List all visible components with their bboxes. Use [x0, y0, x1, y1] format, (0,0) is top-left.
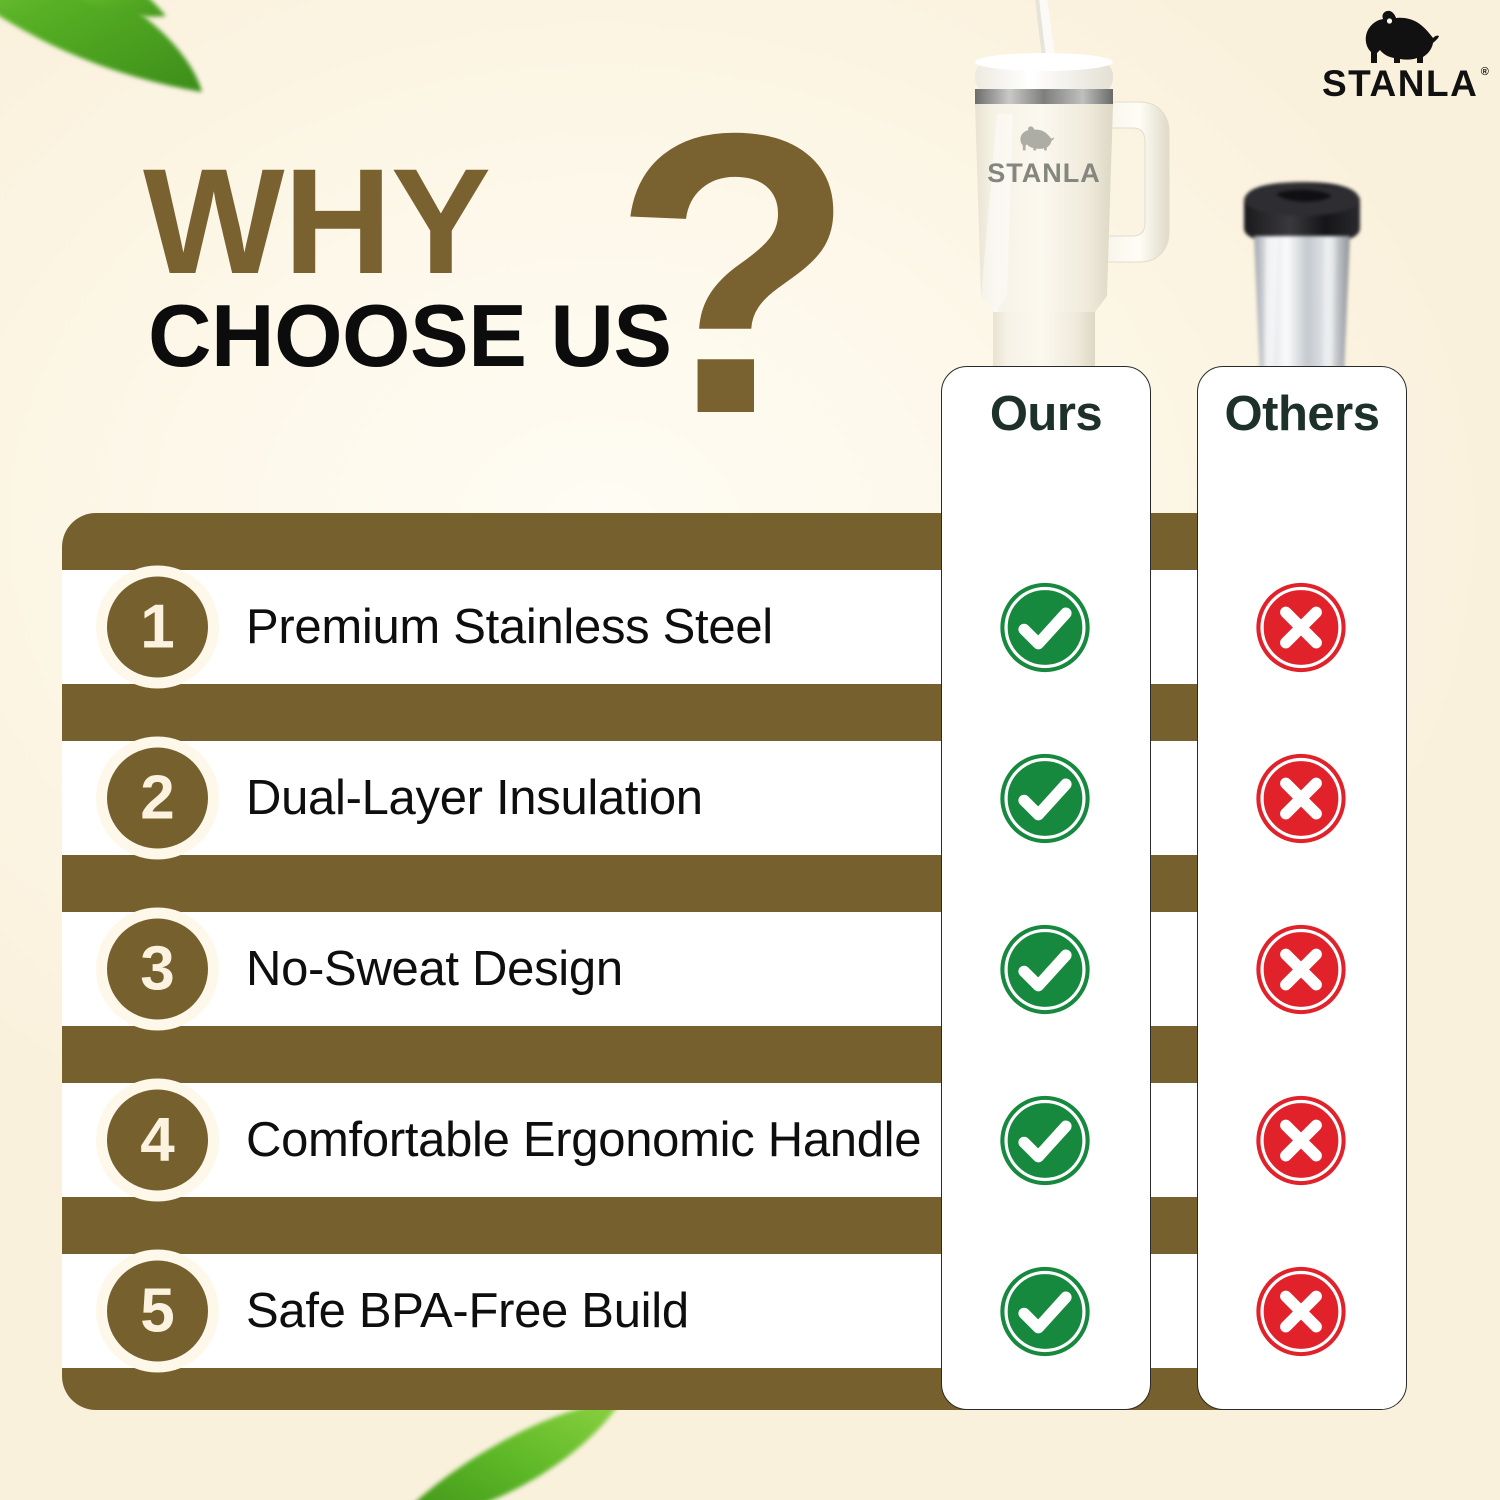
stripe-brown — [62, 684, 1396, 741]
column-header-ours: Ours — [942, 386, 1150, 442]
feature-number-badge: 1 — [107, 577, 208, 678]
feature-label: Safe BPA-Free Build — [246, 1283, 689, 1339]
check-icon-ours — [998, 580, 1093, 675]
check-icon-ours — [998, 922, 1093, 1017]
leaf-decoration-top-left-secondary — [0, 0, 190, 70]
features-panel: 1Premium Stainless Steel2Dual-Layer Insu… — [62, 513, 1396, 1410]
cross-icon-others — [1254, 1093, 1349, 1188]
feature-number-badge: 4 — [107, 1090, 208, 1191]
feature-label: Premium Stainless Steel — [246, 599, 773, 655]
stripe-brown — [62, 1197, 1396, 1254]
cross-icon-others — [1254, 922, 1349, 1017]
comparison-column-ours[interactable]: Ours — [941, 366, 1151, 1410]
stripe-brown — [62, 513, 1396, 570]
brand-name: STANLA® — [1322, 65, 1478, 102]
feature-row: 3No-Sweat Design — [62, 912, 1396, 1026]
feature-row: 5Safe BPA-Free Build — [62, 1254, 1396, 1368]
feature-row: 1Premium Stainless Steel — [62, 570, 1396, 684]
bear-silhouette-icon — [1354, 10, 1440, 64]
feature-number-badge: 5 — [107, 1261, 208, 1362]
question-mark-icon: ? — [612, 74, 850, 474]
brand-name-text: STANLA — [1322, 63, 1478, 104]
stripe-brown — [62, 1026, 1396, 1083]
feature-row: 4Comfortable Ergonomic Handle — [62, 1083, 1396, 1197]
cross-icon-others — [1254, 751, 1349, 846]
stripe-brown — [62, 1368, 1396, 1410]
stripe-brown — [62, 855, 1396, 912]
check-icon-ours — [998, 1264, 1093, 1359]
feature-label: No-Sweat Design — [246, 941, 623, 997]
feature-label: Dual-Layer Insulation — [246, 770, 703, 826]
infographic-canvas: STANLA® WHY CHOOSE US ? 1Premium Stainle… — [0, 0, 1500, 1500]
feature-number-badge: 3 — [107, 919, 208, 1020]
column-header-others: Others — [1198, 386, 1406, 442]
feature-number-badge: 2 — [107, 748, 208, 849]
feature-label: Comfortable Ergonomic Handle — [246, 1112, 921, 1168]
check-icon-ours — [998, 751, 1093, 846]
brand-logo: STANLA® — [1322, 10, 1472, 102]
cross-icon-others — [1254, 580, 1349, 675]
cross-icon-others — [1254, 1264, 1349, 1359]
svg-text:STANLA: STANLA — [987, 158, 1101, 188]
feature-row: 2Dual-Layer Insulation — [62, 741, 1396, 855]
comparison-column-others[interactable]: Others — [1197, 366, 1407, 1410]
check-icon-ours — [998, 1093, 1093, 1188]
trademark-symbol: ® — [1481, 67, 1491, 78]
